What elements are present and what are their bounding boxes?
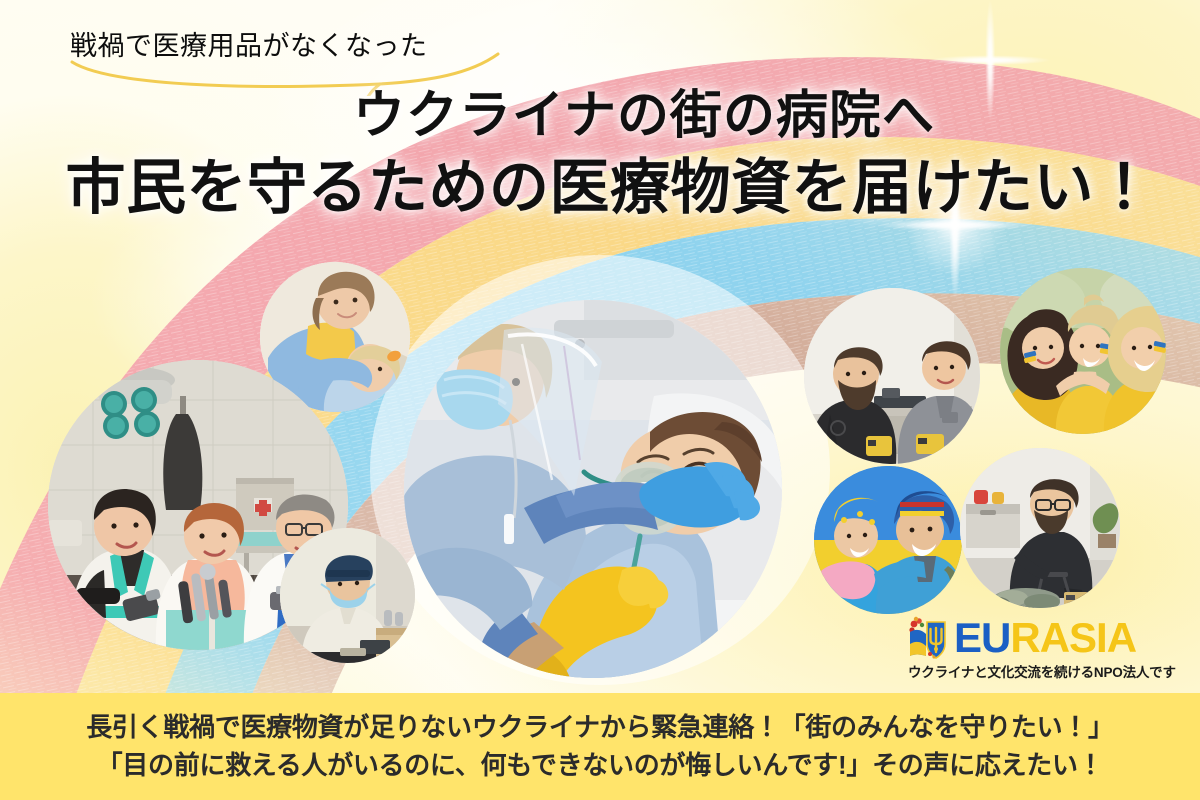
- headline-line-2: 市民を守るための医療物資を届けたい！: [0, 155, 1200, 221]
- photo-doctor-seated-image: [960, 448, 1120, 608]
- photo-couple-image: [814, 466, 962, 614]
- eurasia-logo[interactable]: EURASIA ウクライナと文化交流を続けるNPO法人です: [908, 616, 1188, 681]
- photo-masked-young-man-with-boxes: [280, 528, 415, 663]
- photo-family-image: [1000, 268, 1166, 434]
- logo-word-primary: EU: [954, 614, 1010, 661]
- photo-two-men-image: [804, 288, 980, 464]
- logo-row: EURASIA: [908, 616, 1188, 660]
- photo-masked-man-image: [280, 528, 415, 663]
- kicker-block: 戦禍で医療用品がなくなった: [70, 24, 590, 94]
- ukraine-coat-of-arms-emblem: [908, 616, 948, 660]
- poster-canvas: 戦禍で医療用品がなくなった ウクライナの街の病院へ 市民を守るための医療物資を届…: [0, 0, 1200, 800]
- photo-couple-embracing-flag: [814, 466, 962, 614]
- photo-doctor-seated-with-supplies: [960, 448, 1120, 608]
- logo-tagline: ウクライナと文化交流を続けるNPO法人です: [908, 661, 1188, 681]
- photo-family-ukraine-flag-facepaint: [1000, 268, 1166, 434]
- headline-line-1: ウクライナの街の病院へ: [0, 88, 1160, 145]
- photo-child-oxygen-mask-treatment: [404, 300, 782, 678]
- caption-line-2: 「目の前に救える人がいるのに、何もできないのが悔しいんです!」その声に応えたい！: [97, 747, 1104, 785]
- caption-bar: 長引く戦禍で医療物資が足りないウクライナから緊急連絡！「街のみんなを守りたい！」…: [0, 693, 1200, 800]
- logo-wordmark: EURASIA: [954, 617, 1136, 659]
- caption-line-1: 長引く戦禍で医療物資が足りないウクライナから緊急連絡！「街のみんなを守りたい！」: [86, 709, 1113, 747]
- photo-two-men-with-equipment: [804, 288, 980, 464]
- photo-oxygen-treatment-image: [404, 300, 782, 678]
- logo-word-secondary: RASIA: [1010, 614, 1136, 661]
